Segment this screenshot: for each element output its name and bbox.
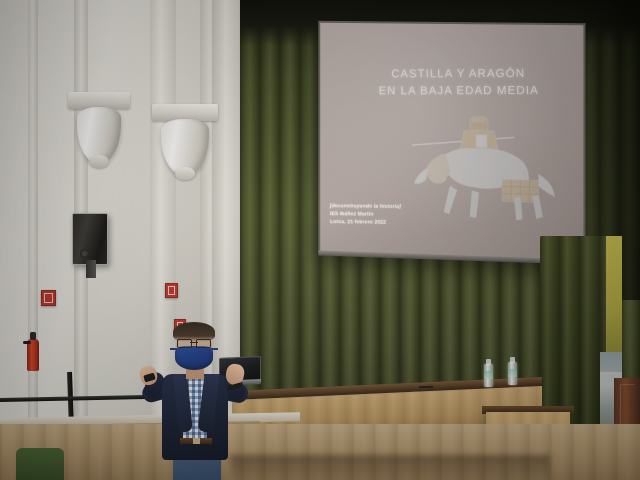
knight-illustration bbox=[410, 115, 559, 225]
slide-title-line-1: CASTILLA Y ARAGÓN bbox=[343, 65, 575, 83]
slide-credit-line-3: Lorca, 21 febrero 2022 bbox=[330, 219, 401, 228]
green-chair bbox=[16, 448, 64, 480]
loudspeaker bbox=[72, 213, 108, 265]
plaster-corbel bbox=[68, 92, 130, 164]
glasses-lens bbox=[177, 339, 192, 348]
glasses-icon bbox=[177, 339, 211, 346]
corbel-scroll bbox=[90, 155, 109, 168]
corbel-scroll bbox=[175, 167, 195, 180]
presenter bbox=[140, 322, 252, 480]
slide-surface: CASTILLA Y ARAGÓN EN LA BAJA EDAD MEDIA bbox=[320, 23, 583, 262]
olive-wall-strip bbox=[606, 236, 622, 366]
fire-extinguisher bbox=[27, 339, 39, 371]
glasses-lens bbox=[196, 339, 211, 348]
belt bbox=[180, 438, 212, 444]
slide-title: CASTILLA Y ARAGÓN EN LA BAJA EDAD MEDIA bbox=[343, 65, 575, 100]
exit-sign bbox=[165, 283, 178, 298]
auditorium-photo: CASTILLA Y ARAGÓN EN LA BAJA EDAD MEDIA bbox=[0, 0, 640, 480]
projection-screen: CASTILLA Y ARAGÓN EN LA BAJA EDAD MEDIA bbox=[318, 21, 585, 265]
water-bottle bbox=[484, 359, 493, 387]
slide-credits: [deconstruyendo la historia] IES Ibáñez … bbox=[330, 203, 402, 227]
glasses-bridge bbox=[190, 342, 198, 343]
slide-title-line-2: EN LA BAJA EDAD MEDIA bbox=[344, 83, 576, 101]
bottle-label bbox=[484, 371, 493, 379]
loudspeaker-bracket bbox=[86, 260, 96, 278]
plaster-corbel bbox=[152, 104, 218, 176]
bottle-label bbox=[508, 369, 517, 377]
face-mask bbox=[175, 346, 213, 370]
water-bottle bbox=[508, 357, 517, 385]
exit-sign bbox=[41, 290, 56, 306]
floor-shadow bbox=[230, 455, 550, 480]
